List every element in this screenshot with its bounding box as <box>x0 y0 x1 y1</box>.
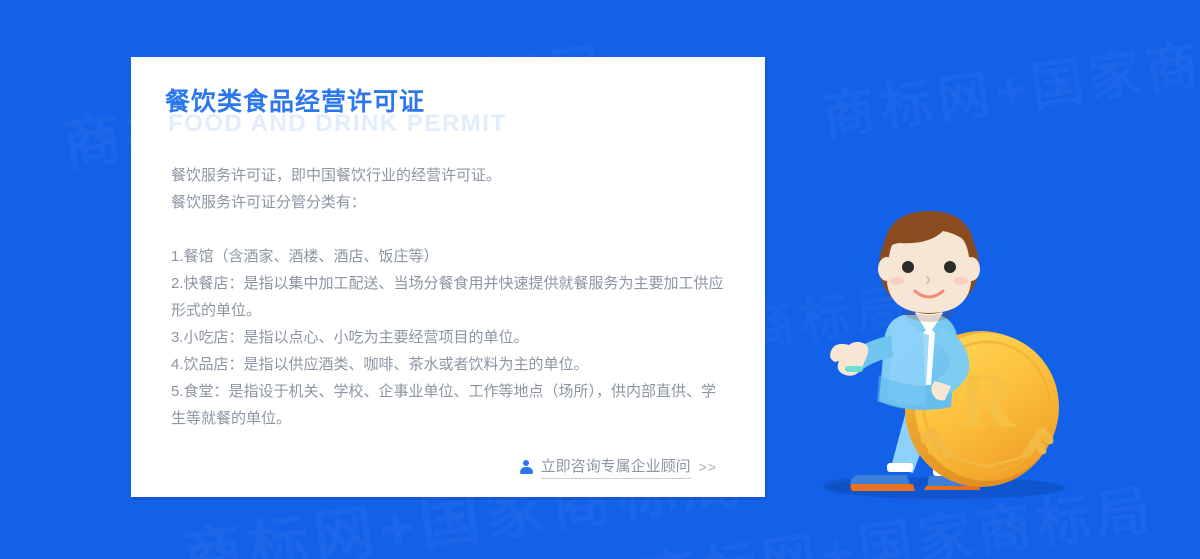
content-card: 餐饮类食品经营许可证 FOOD AND DRINK PERMIT 餐饮服务许可证… <box>131 57 765 497</box>
list-item: 4.饮品店：是指以供应酒类、咖啡、茶水或者饮料为主的单位。 <box>171 351 726 378</box>
body-copy: 餐饮服务许可证，即中国餐饮行业的经营许可证。 餐饮服务许可证分管分类有： 1.餐… <box>171 162 726 432</box>
page-title: 餐饮类食品经营许可证 <box>165 90 425 115</box>
person-icon <box>520 460 533 474</box>
cta-label: 立即咨询专属企业顾问 <box>541 455 691 479</box>
chevron-right-icon: >> <box>699 459 717 475</box>
lead-paragraphs: 餐饮服务许可证，即中国餐饮行业的经营许可证。 餐饮服务许可证分管分类有： <box>171 162 726 216</box>
head <box>878 211 980 322</box>
heading-block: 餐饮类食品经营许可证 FOOD AND DRINK PERMIT <box>165 90 765 142</box>
lead-line: 餐饮服务许可证分管分类有： <box>171 189 726 216</box>
consult-advisor-link[interactable]: 立即咨询专属企业顾问 >> <box>520 455 717 479</box>
paragraph-spacer <box>171 216 726 243</box>
watermark-text: 商标网+国家商标局 <box>817 6 1200 150</box>
category-list: 1.餐馆（含酒家、酒楼、酒店、饭庄等） 2.快餐店：是指以集中加工配送、当场分餐… <box>171 243 726 432</box>
list-item: 2.快餐店：是指以集中加工配送、当场分餐食用并快速提供就餐服务为主要加工供应形式… <box>171 270 726 324</box>
illustration-businesswoman-with-coin: R <box>795 205 1095 515</box>
cta-row: 立即咨询专属企业顾问 >> <box>131 455 765 479</box>
list-item: 3.小吃店：是指以点心、小吃为主要经营项目的单位。 <box>171 324 726 351</box>
list-item: 1.餐馆（含酒家、酒楼、酒店、饭庄等） <box>171 243 726 270</box>
list-item: 5.食堂：是指设于机关、学校、企事业单位、工作等地点（场所），供内部直供、学生等… <box>171 378 726 432</box>
lead-line: 餐饮服务许可证，即中国餐饮行业的经营许可证。 <box>171 162 726 189</box>
